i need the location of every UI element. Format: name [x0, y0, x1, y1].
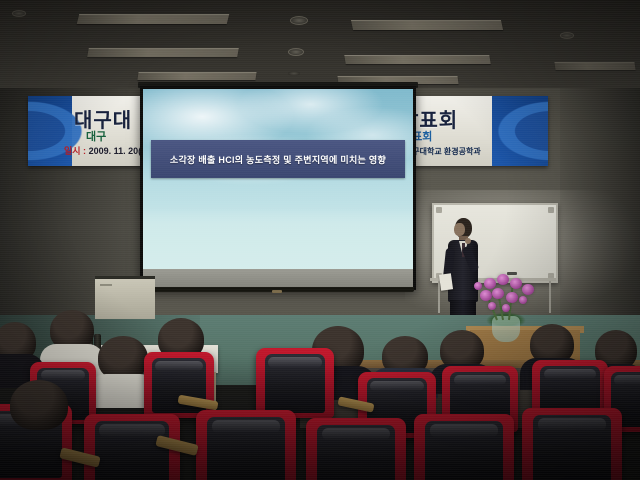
orchid-bloom: [510, 278, 522, 289]
orchid-bloom: [519, 296, 527, 304]
orchid-bloom: [484, 278, 496, 289]
cabinet-vent-icon: [100, 284, 112, 286]
presenter-hand: [465, 238, 471, 244]
whiteboard-corner: [436, 207, 442, 213]
ceiling-vent-icon: [288, 48, 304, 56]
orchid-bloom: [488, 302, 496, 310]
ceiling-vent-icon: [290, 16, 308, 25]
seat-highlight: [370, 381, 423, 392]
ceiling-vent-icon: [12, 10, 26, 17]
ceiling-light-fixture: [344, 55, 490, 64]
wall-cabinet: [95, 276, 155, 319]
slide-bottom-band: [143, 269, 413, 287]
seat-highlight: [544, 369, 596, 380]
orchid-bloom: [474, 282, 482, 290]
seat-highlight: [212, 420, 280, 433]
presenter-papers: [439, 273, 453, 291]
wall-shadow: [560, 88, 640, 320]
banner-right: 발표회 발표회 : 대구대학교 환경공학과: [398, 96, 548, 166]
orchid-bloom: [522, 284, 534, 295]
auditorium-seat[interactable]: [522, 408, 622, 480]
orchid-bloom: [506, 292, 518, 303]
person-head: [10, 380, 68, 430]
ceiling-light-fixture: [137, 72, 256, 80]
auditorium-seat[interactable]: [414, 414, 514, 480]
auditorium-seat[interactable]: [196, 410, 296, 480]
seat-highlight: [155, 361, 203, 372]
seat-highlight: [430, 424, 498, 436]
seat-highlight: [454, 375, 506, 386]
banner-left: 대구대 대구 일시 : 2009. 11. 20(금): [28, 96, 150, 166]
banner-left-subtitle: 대구: [86, 128, 106, 144]
ceiling-speaker-icon: [288, 71, 300, 76]
seat-highlight: [614, 375, 640, 386]
audience-member: [10, 380, 68, 430]
banner-swoosh-icon: [488, 96, 548, 166]
orchid-bloom: [492, 288, 504, 299]
ceiling-light-fixture: [87, 48, 239, 57]
slide-surface: 소각장 배출 HCl의 농도측정 및 주변지역에 미치는 영향: [143, 89, 413, 287]
slide-title-text: 소각장 배출 HCl의 농도측정 및 주변지역에 미치는 영향: [170, 153, 386, 166]
orchid-bloom: [497, 274, 509, 285]
ceiling-light-fixture: [554, 62, 635, 70]
banner-date-label: 일시 :: [64, 146, 86, 156]
orchid-bloom: [480, 290, 492, 301]
ceiling-light-fixture: [351, 20, 503, 30]
seat-highlight: [99, 424, 164, 436]
banner-left-date: 일시 : 2009. 11. 20(금): [64, 144, 150, 157]
ceiling-light-fixture: [77, 14, 229, 24]
seat-highlight: [322, 428, 390, 440]
slide-title-bar: 소각장 배출 HCl의 농도측정 및 주변지역에 미치는 영향: [151, 140, 405, 178]
ceiling-vent-icon: [560, 32, 574, 39]
seat-highlight: [268, 357, 321, 368]
auditorium-photo: 대구대 대구 일시 : 2009. 11. 20(금) 발표회 발표회 : 대구…: [0, 0, 640, 480]
projection-screen: 소각장 배출 HCl의 농도측정 및 주변지역에 미치는 영향: [140, 86, 416, 290]
seat-highlight: [41, 370, 86, 380]
screen-pull-tab[interactable]: [272, 290, 282, 293]
presenter-face: [454, 223, 465, 236]
whiteboard-corner: [548, 207, 554, 213]
auditorium-seat[interactable]: [306, 418, 406, 480]
seat-highlight: [538, 418, 606, 431]
orchid-bloom: [502, 304, 510, 312]
auditorium-seat[interactable]: [256, 348, 334, 418]
